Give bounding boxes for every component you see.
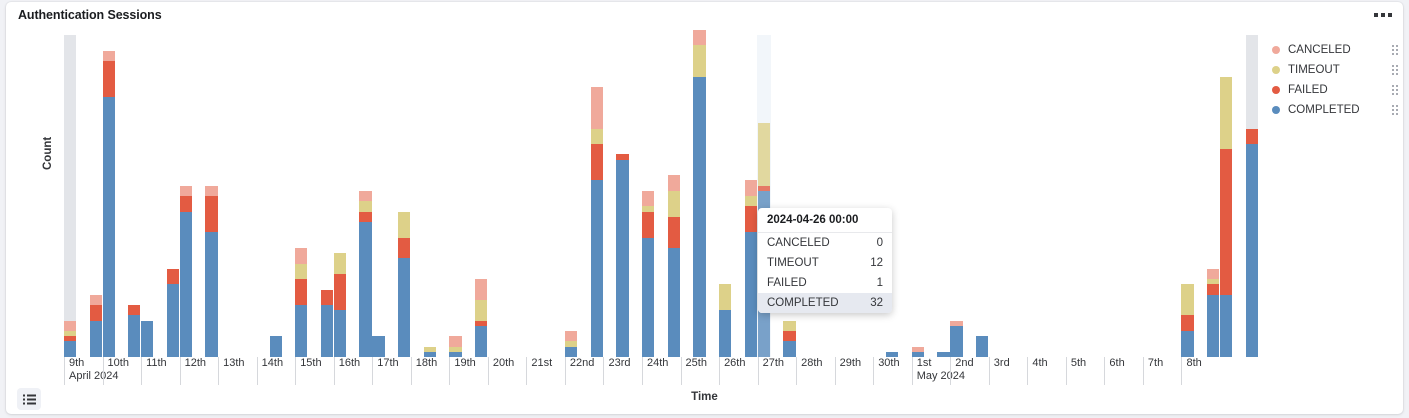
bar-segment-completed[interactable] <box>976 336 988 357</box>
chart-bar[interactable] <box>591 87 603 357</box>
handle-dot <box>1392 109 1394 111</box>
bar-segment-completed[interactable] <box>475 326 487 357</box>
bar-segment-completed[interactable] <box>270 336 282 357</box>
chart-bar[interactable] <box>1207 269 1219 357</box>
bar-segment-completed[interactable] <box>1246 144 1258 357</box>
bar-segment-timeout[interactable] <box>295 264 307 280</box>
bar-segment-completed[interactable] <box>1220 295 1232 357</box>
chart-plot-area[interactable] <box>64 35 1220 357</box>
bar-segment-timeout[interactable] <box>475 300 487 321</box>
bar-segment-timeout[interactable] <box>758 123 770 185</box>
chart-bar[interactable] <box>103 51 115 357</box>
bar-segment-completed[interactable] <box>1207 295 1219 357</box>
bar-segment-completed[interactable] <box>141 321 153 357</box>
bar-segment-completed[interactable] <box>745 232 757 357</box>
x-axis-tick-label: 12th <box>185 357 206 369</box>
x-axis-tick-label: 9th <box>69 357 84 369</box>
drag-handle-icon[interactable] <box>1390 84 1400 96</box>
tooltip-series-value: 12 <box>870 257 883 269</box>
bar-segment-timeout[interactable] <box>745 196 757 206</box>
y-axis-label: Count <box>42 137 54 170</box>
bar-segment-completed[interactable] <box>295 305 307 357</box>
bar-segment-failed[interactable] <box>783 331 795 341</box>
chart-bar[interactable] <box>334 253 346 357</box>
x-axis-tick-label: 18th <box>416 357 437 369</box>
bar-segment-completed[interactable] <box>591 180 603 357</box>
bar-segment-completed[interactable] <box>616 160 628 357</box>
x-axis-tick: 18th <box>411 357 437 385</box>
x-axis-tick: 14th <box>257 357 283 385</box>
handle-dot <box>1392 93 1394 95</box>
handle-dot <box>1396 85 1398 87</box>
x-axis: 9thApril 202410th11th12th13th14th15th16t… <box>64 357 1220 387</box>
bar-segment-timeout[interactable] <box>334 253 346 274</box>
tooltip-series-name: CANCELED <box>767 237 830 249</box>
x-axis-tick-label: 5th <box>1071 357 1086 369</box>
bar-segment-canceled[interactable] <box>693 30 705 46</box>
list-icon-glyph <box>23 394 36 405</box>
bar-segment-failed[interactable] <box>90 305 102 321</box>
handle-dot <box>1392 49 1394 51</box>
x-axis-tick-label: 8th <box>1186 357 1201 369</box>
x-axis-tick: 24th <box>642 357 668 385</box>
x-axis-tick: 26th <box>719 357 745 385</box>
tooltip-series-name: TIMEOUT <box>767 257 819 269</box>
bar-segment-failed[interactable] <box>321 290 333 306</box>
bar-segment-completed[interactable] <box>398 258 410 357</box>
handle-dot <box>1396 113 1398 115</box>
bar-segment-completed[interactable] <box>783 341 795 357</box>
panel-menu-icon[interactable] <box>1371 7 1395 23</box>
x-axis-tick: 22nd <box>565 357 594 385</box>
x-axis-tick: 19th <box>449 357 475 385</box>
bar-segment-canceled[interactable] <box>642 191 654 207</box>
x-axis-tick-label: 4th <box>1032 357 1047 369</box>
chart-bar[interactable] <box>128 305 140 357</box>
x-axis-tick: 2nd <box>950 357 973 385</box>
x-axis-tick-label: 30th <box>878 357 899 369</box>
chart-bar[interactable] <box>141 321 153 357</box>
bar-segment-completed[interactable] <box>668 248 680 357</box>
x-axis-tick-label: 16th <box>339 357 360 369</box>
tooltip-row: COMPLETED32 <box>758 293 892 313</box>
legend-color-dot-icon <box>1272 106 1280 114</box>
tooltip-series-name: COMPLETED <box>767 297 839 309</box>
bar-segment-timeout[interactable] <box>719 284 731 310</box>
bar-segment-timeout[interactable] <box>359 201 371 211</box>
legend-color-dot-icon <box>1272 66 1280 74</box>
legend-item-failed[interactable]: FAILED <box>1272 80 1400 100</box>
chart-bar[interactable] <box>616 154 628 357</box>
chart-bar[interactable] <box>745 180 757 357</box>
chart-bar[interactable] <box>398 212 410 357</box>
bar-segment-failed[interactable] <box>180 196 192 212</box>
chart-bar[interactable] <box>475 279 487 357</box>
bar-segment-timeout[interactable] <box>1181 284 1193 315</box>
x-axis-tick: 25th <box>681 357 707 385</box>
x-axis-tick-label: 17th <box>377 357 398 369</box>
handle-dot <box>1392 89 1394 91</box>
bar-segment-completed[interactable] <box>1181 331 1193 357</box>
x-axis-tick-label: 28th <box>801 357 822 369</box>
x-axis-tick-label: 1st <box>917 357 932 369</box>
bar-segment-failed[interactable] <box>334 274 346 310</box>
bar-segment-failed[interactable] <box>398 238 410 259</box>
x-axis-tick: 13th <box>218 357 244 385</box>
x-axis-tick: 21st <box>526 357 552 385</box>
bar-segment-failed[interactable] <box>167 269 179 285</box>
bar-segment-completed[interactable] <box>103 97 115 357</box>
x-axis-tick: 10th <box>103 357 129 385</box>
chart-legend: CANCELEDTIMEOUTFAILEDCOMPLETED <box>1272 40 1400 120</box>
partial-bucket-shading <box>64 35 76 357</box>
x-axis-tick: 23rd <box>603 357 630 385</box>
chart-bar[interactable] <box>270 336 282 357</box>
handle-dot <box>1392 113 1394 115</box>
drag-handle-icon[interactable] <box>1390 44 1400 56</box>
handle-dot <box>1396 105 1398 107</box>
bar-segment-timeout[interactable] <box>398 212 410 238</box>
bar-segment-timeout[interactable] <box>591 129 603 145</box>
chart-bar[interactable] <box>64 321 76 357</box>
bar-segment-canceled[interactable] <box>359 191 371 201</box>
chart-bar[interactable] <box>90 295 102 357</box>
bar-segment-completed[interactable] <box>719 310 731 357</box>
tooltip-series-name: FAILED <box>767 277 807 289</box>
chart-bar[interactable] <box>449 336 461 357</box>
chart-bar[interactable] <box>912 347 924 357</box>
handle-dot <box>1396 45 1398 47</box>
bar-segment-failed[interactable] <box>642 212 654 238</box>
legend-item-label: CANCELED <box>1288 44 1390 56</box>
bar-segment-completed[interactable] <box>950 326 962 357</box>
bar-segment-failed[interactable] <box>1181 315 1193 331</box>
handle-dot <box>1392 69 1394 71</box>
x-axis-tick: 20th <box>488 357 514 385</box>
x-axis-tick: 15th <box>295 357 321 385</box>
bar-segment-canceled[interactable] <box>205 186 217 196</box>
bar-segment-failed[interactable] <box>359 212 371 222</box>
chart-bar[interactable] <box>783 321 795 357</box>
x-axis-tick-label: 24th <box>647 357 668 369</box>
bar-segment-canceled[interactable] <box>1207 269 1219 279</box>
tooltip-row: TIMEOUT12 <box>758 253 892 273</box>
drag-handle-icon[interactable] <box>1390 104 1400 116</box>
bar-segment-canceled[interactable] <box>103 51 115 61</box>
bar-segment-completed[interactable] <box>642 238 654 357</box>
tooltip-row: CANCELED0 <box>758 233 892 253</box>
bar-segment-completed[interactable] <box>565 347 577 357</box>
x-axis-tick-label: 22nd <box>570 357 594 369</box>
legend-item-label: FAILED <box>1288 84 1390 96</box>
chart-bar[interactable] <box>1246 128 1258 357</box>
x-axis-tick: 4th <box>1027 357 1047 385</box>
x-axis-tick-label: 26th <box>724 357 745 369</box>
handle-dot <box>1396 53 1398 55</box>
tooltip-rows: CANCELED0TIMEOUT12FAILED1COMPLETED32 <box>758 233 892 313</box>
bar-segment-completed[interactable] <box>372 336 384 357</box>
legend-color-dot-icon <box>1272 46 1280 54</box>
x-axis-tick-label: 29th <box>840 357 861 369</box>
bar-segment-canceled[interactable] <box>295 248 307 264</box>
x-axis-tick-label: 6th <box>1109 357 1124 369</box>
bar-segment-failed[interactable] <box>128 305 140 315</box>
chart-bar[interactable] <box>359 191 371 357</box>
x-axis-tick: 29th <box>835 357 861 385</box>
handle-dot <box>1392 45 1394 47</box>
x-axis-tick: 5th <box>1066 357 1086 385</box>
x-axis-tick-label: 19th <box>454 357 475 369</box>
chart-bar[interactable] <box>565 331 577 357</box>
dot-1 <box>1374 13 1378 17</box>
x-axis-tick: 6th <box>1104 357 1124 385</box>
bar-segment-completed[interactable] <box>205 232 217 357</box>
x-axis-tick: 17th <box>372 357 398 385</box>
legend-item-label: COMPLETED <box>1288 104 1390 116</box>
screenshot-root: Authentication Sessions Count 9thApril 2… <box>0 0 1409 418</box>
bar-segment-timeout[interactable] <box>693 45 705 76</box>
tooltip-row: FAILED1 <box>758 273 892 293</box>
handle-dot <box>1392 53 1394 55</box>
x-axis-tick-label: 23rd <box>608 357 630 369</box>
chart-bar[interactable] <box>167 269 179 357</box>
chart-bar[interactable] <box>693 30 705 357</box>
tooltip-title: 2024-04-26 00:00 <box>758 208 892 233</box>
x-axis-label: Time <box>6 391 1403 403</box>
bar-segment-canceled[interactable] <box>180 186 192 196</box>
x-axis-tick-label: 13th <box>223 357 244 369</box>
bar-segment-canceled[interactable] <box>449 336 461 346</box>
bar-segment-completed[interactable] <box>180 212 192 357</box>
x-axis-tick-label: 11th <box>146 357 167 369</box>
handle-dot <box>1392 65 1394 67</box>
x-axis-tick-label: 2nd <box>955 357 973 369</box>
legend-color-dot-icon <box>1272 86 1280 94</box>
bar-segment-failed[interactable] <box>1246 129 1258 145</box>
authentication-sessions-panel: Authentication Sessions Count 9thApril 2… <box>6 2 1403 414</box>
drag-handle-icon[interactable] <box>1390 64 1400 76</box>
bar-segment-canceled[interactable] <box>745 180 757 196</box>
x-axis-tick: 28th <box>796 357 822 385</box>
chart-bar[interactable] <box>205 186 217 357</box>
bar-segment-completed[interactable] <box>128 315 140 357</box>
tooltip-series-value: 1 <box>877 277 883 289</box>
handle-dot <box>1396 65 1398 67</box>
chart-bar[interactable] <box>1220 77 1232 357</box>
list-view-icon[interactable] <box>17 388 41 410</box>
bar-segment-completed[interactable] <box>64 341 76 357</box>
x-axis-tick-label: 20th <box>493 357 514 369</box>
bar-segment-timeout[interactable] <box>668 191 680 217</box>
chart-bar[interactable] <box>976 336 988 357</box>
legend-item-canceled[interactable]: CANCELED <box>1272 40 1400 60</box>
bar-segment-failed[interactable] <box>295 279 307 305</box>
handle-dot <box>1392 73 1394 75</box>
x-axis-tick-label: 21st <box>531 357 552 369</box>
legend-divider <box>1262 32 1263 387</box>
bar-segment-timeout[interactable] <box>783 321 795 331</box>
chart-bar[interactable] <box>642 191 654 357</box>
bar-segment-completed[interactable] <box>321 305 333 357</box>
handle-dot <box>1396 93 1398 95</box>
x-axis-tick-label: 27th <box>763 357 784 369</box>
bar-segment-failed[interactable] <box>1207 284 1219 294</box>
bar-segment-canceled[interactable] <box>64 321 76 331</box>
chart-bar[interactable] <box>950 321 962 357</box>
chart-tooltip: 2024-04-26 00:00 CANCELED0TIMEOUT12FAILE… <box>758 208 892 313</box>
chart-bar[interactable] <box>424 347 436 357</box>
legend-item-timeout[interactable]: TIMEOUT <box>1272 60 1400 80</box>
x-axis-tick: 7th <box>1143 357 1163 385</box>
x-axis-tick: 12th <box>180 357 206 385</box>
handle-dot <box>1392 105 1394 107</box>
x-axis-tick-label: 14th <box>262 357 283 369</box>
handle-dot <box>1396 49 1398 51</box>
bar-segment-completed[interactable] <box>167 284 179 357</box>
bar-segment-canceled[interactable] <box>591 87 603 129</box>
bar-segment-failed[interactable] <box>1220 149 1232 294</box>
bar-segment-timeout[interactable] <box>1220 77 1232 150</box>
chart-bar[interactable] <box>719 284 731 357</box>
handle-dot <box>1392 85 1394 87</box>
bar-segment-canceled[interactable] <box>668 175 680 191</box>
tooltip-series-value: 0 <box>877 237 883 249</box>
bar-segment-completed[interactable] <box>334 310 346 357</box>
x-axis-tick: 11th <box>141 357 167 385</box>
legend-item-label: TIMEOUT <box>1288 64 1390 76</box>
tooltip-series-value: 32 <box>870 297 883 309</box>
bar-segment-failed[interactable] <box>205 196 217 232</box>
handle-dot <box>1396 109 1398 111</box>
handle-dot <box>1396 69 1398 71</box>
page-title: Authentication Sessions <box>18 8 162 22</box>
chart-bar[interactable] <box>372 336 384 357</box>
bar-segment-completed[interactable] <box>693 77 705 357</box>
bar-segment-canceled[interactable] <box>90 295 102 305</box>
chart-bar[interactable] <box>1181 284 1193 357</box>
x-axis-tick: 3rd <box>989 357 1010 385</box>
x-axis-tick: 27th <box>758 357 784 385</box>
chart-bar[interactable] <box>668 175 680 357</box>
x-axis-tick-label: 7th <box>1148 357 1163 369</box>
bar-segment-canceled[interactable] <box>565 331 577 341</box>
x-axis-tick: 8th <box>1181 357 1201 385</box>
dot-2 <box>1381 13 1385 17</box>
legend-item-completed[interactable]: COMPLETED <box>1272 100 1400 120</box>
bar-segment-failed[interactable] <box>745 206 757 232</box>
x-axis-tick-label: 25th <box>686 357 707 369</box>
chart-bar[interactable] <box>180 186 192 357</box>
bar-segment-completed[interactable] <box>90 321 102 357</box>
x-axis-tick-label: 10th <box>108 357 129 369</box>
x-axis-tick-label: 3rd <box>994 357 1010 369</box>
chart-bar[interactable] <box>321 289 333 357</box>
handle-dot <box>1396 73 1398 75</box>
bar-segment-failed[interactable] <box>668 217 680 248</box>
x-axis-tick: 30th <box>873 357 899 385</box>
bar-segment-failed[interactable] <box>591 144 603 180</box>
bar-segment-completed[interactable] <box>359 222 371 357</box>
x-axis-tick-label: 15th <box>300 357 321 369</box>
bar-segment-canceled[interactable] <box>475 279 487 300</box>
dot-3 <box>1388 13 1392 17</box>
chart-bar[interactable] <box>295 248 307 357</box>
bar-segment-failed[interactable] <box>103 61 115 97</box>
handle-dot <box>1396 89 1398 91</box>
x-axis-tick: 16th <box>334 357 360 385</box>
